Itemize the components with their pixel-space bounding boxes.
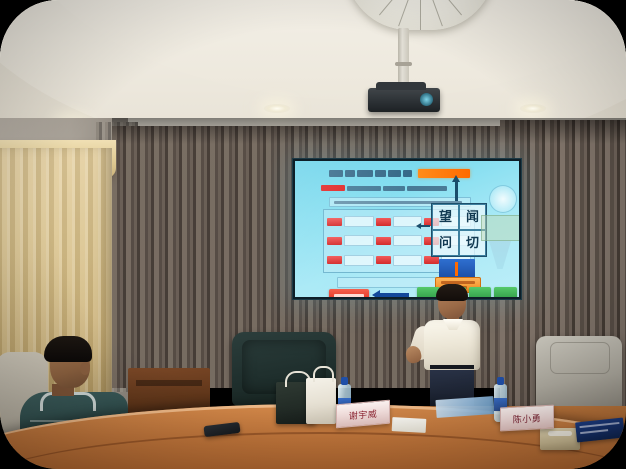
- wall-top-shadow: [112, 118, 626, 144]
- attendee-ear: [80, 362, 90, 375]
- downlight-right: [520, 104, 546, 113]
- matrix-tag: [376, 218, 391, 226]
- matrix-tag: [376, 237, 391, 245]
- chair-right[interactable]: [536, 336, 622, 414]
- arrow-left-icon: [421, 225, 430, 227]
- ceiling-projector: [368, 88, 440, 112]
- white-paper-sheet[interactable]: [392, 417, 427, 433]
- presenter-hair: [436, 284, 468, 301]
- projection-screen-frame: 望 闻 问 切: [292, 158, 522, 300]
- matrix-cell: [376, 232, 423, 249]
- funnel-icon: [489, 241, 511, 269]
- matrix-tag: [327, 237, 342, 245]
- name-card-left[interactable]: 谢宇威: [336, 400, 390, 429]
- white-gift-bag[interactable]: [306, 378, 336, 424]
- matrix-tag: [424, 256, 439, 264]
- arrow-up-icon: [455, 181, 458, 201]
- projection-screen[interactable]: 望 闻 问 切: [295, 161, 519, 297]
- blue-arrow-icon: [379, 293, 409, 297]
- four-diagnostics-grid: 望 闻 问 切: [431, 203, 487, 257]
- slide-image-placeholder: [481, 215, 519, 241]
- green-box-4: [494, 287, 517, 297]
- matrix-cell: [376, 252, 423, 269]
- matrix-cell: [327, 213, 374, 230]
- slide-title: [329, 169, 489, 178]
- projector-lens-icon: [420, 93, 433, 106]
- tissue-box[interactable]: [540, 428, 580, 450]
- slide-subtitle: [321, 185, 469, 191]
- bottle-cap-icon: [341, 377, 348, 385]
- standing-presenter: [416, 286, 490, 410]
- downlight-center: [264, 104, 290, 113]
- standard-prescription-button[interactable]: [329, 289, 369, 297]
- name-card-left-text: 谢宇威: [349, 406, 378, 421]
- matrix-cell: [327, 232, 374, 249]
- lightbulb-icon: [489, 185, 517, 213]
- name-card-right-text: 陈小勇: [513, 411, 542, 425]
- name-card-right[interactable]: 陈小勇: [500, 405, 554, 432]
- matrix-cell: [327, 252, 374, 269]
- matrix-tag: [327, 218, 342, 226]
- presenter-belt: [430, 365, 474, 369]
- slide-blue-box: [439, 259, 475, 279]
- photo-canvas: 望 闻 问 切: [0, 0, 626, 469]
- matrix-tag: [376, 256, 391, 264]
- attendee-hair: [44, 336, 92, 362]
- diagnostic-char-wen2: 问: [432, 230, 459, 256]
- bottle-cap-icon: [497, 377, 504, 385]
- diagnostic-char-wang: 望: [432, 204, 459, 230]
- matrix-tag: [327, 256, 342, 264]
- presentation-slide: 望 闻 问 切: [303, 167, 511, 293]
